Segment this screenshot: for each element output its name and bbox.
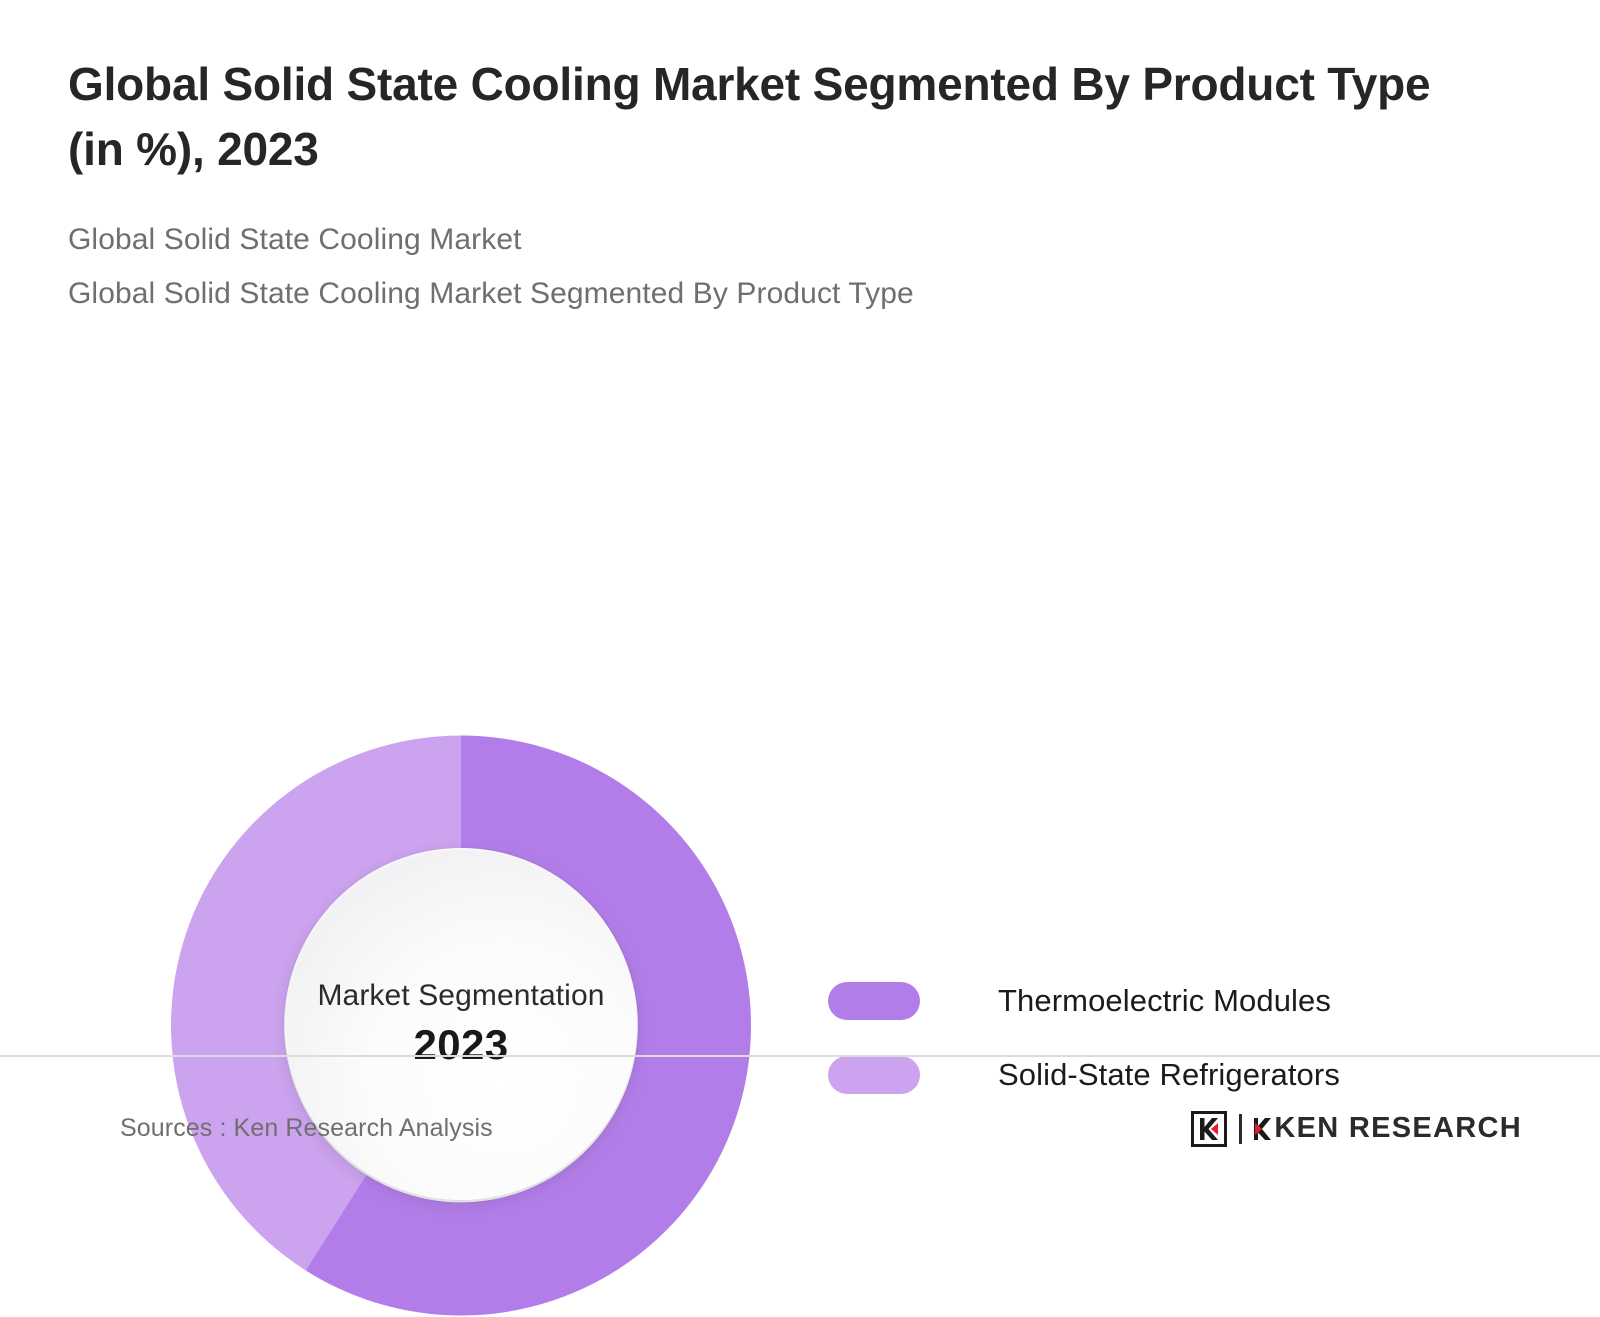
page-title: Global Solid State Cooling Market Segmen… <box>68 52 1488 183</box>
brand-divider <box>1239 1114 1242 1144</box>
donut-center-label: Market Segmentation <box>317 977 604 1015</box>
subtitle-group: Global Solid State Cooling Market Global… <box>68 213 1532 322</box>
subtitle-line-1: Global Solid State Cooling Market <box>68 213 1532 268</box>
brand-logo: KEN RESEARCH <box>1191 1111 1522 1147</box>
legend-label-thermoelectric-modules: Thermoelectric Modules <box>998 983 1331 1019</box>
donut-chart: Market Segmentation 2023 <box>171 734 751 1317</box>
ken-research-k-mark-icon <box>1191 1111 1227 1147</box>
sources-text: Sources : Ken Research Analysis <box>120 1114 493 1143</box>
header: Global Solid State Cooling Market Segmen… <box>0 0 1600 322</box>
brand-name: KEN RESEARCH <box>1274 1112 1522 1145</box>
footer: Sources : Ken Research Analysis KEN RESE… <box>0 1055 1600 1200</box>
chart-body: Market Segmentation 2023 Thermoelectric … <box>0 322 1600 1055</box>
legend-swatch-icon-thermoelectric-modules <box>828 982 920 1020</box>
subtitle-line-2: Global Solid State Cooling Market Segmen… <box>68 267 1532 322</box>
chart-page: Global Solid State Cooling Market Segmen… <box>0 0 1600 1200</box>
ken-research-arrow-icon <box>1252 1114 1274 1144</box>
legend-item-thermoelectric-modules[interactable]: Thermoelectric Modules <box>828 982 1340 1020</box>
